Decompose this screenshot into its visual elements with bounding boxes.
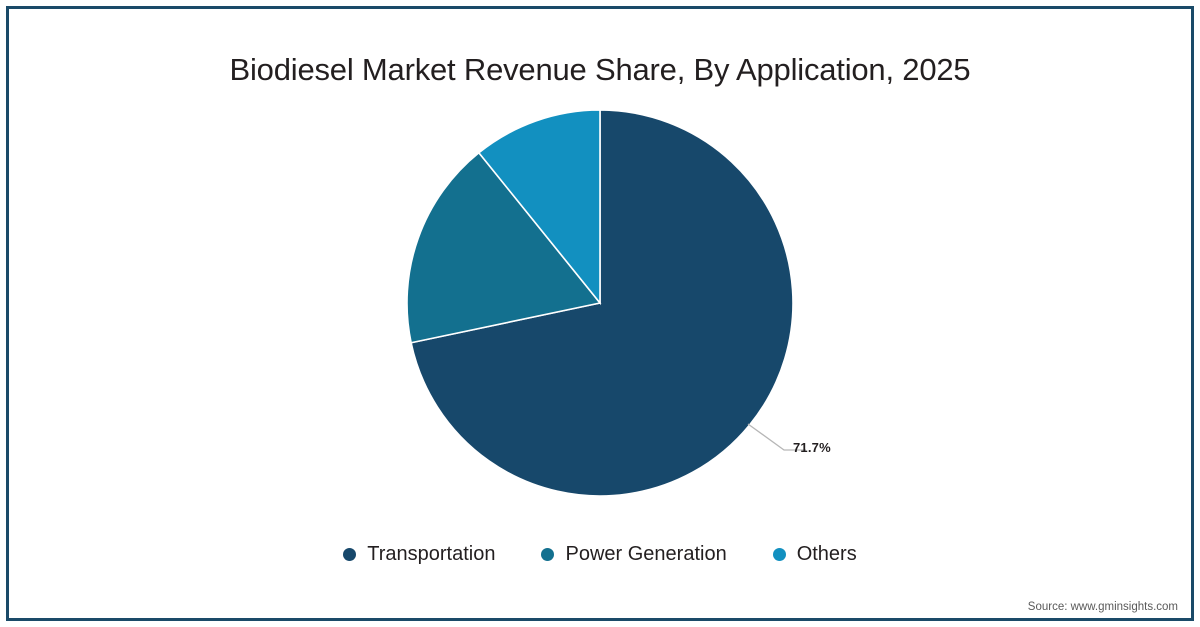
pie-chart-area (0, 0, 1200, 627)
legend-item-label: Power Generation (565, 541, 726, 567)
legend-swatch-icon (773, 548, 786, 561)
legend-item-label: Others (797, 541, 857, 567)
chart-legend: TransportationPower GenerationOthers (0, 541, 1200, 567)
legend-swatch-icon (541, 548, 554, 561)
legend-item-power-generation[interactable]: Power Generation (541, 541, 726, 567)
legend-swatch-icon (343, 548, 356, 561)
legend-item-label: Transportation (367, 541, 495, 567)
pie-data-label-transportation: 71.7% (793, 440, 831, 455)
source-attribution: Source: www.gminsights.com (1028, 601, 1178, 613)
legend-item-others[interactable]: Others (773, 541, 857, 567)
legend-item-transportation[interactable]: Transportation (343, 541, 495, 567)
chart-canvas: Biodiesel Market Revenue Share, By Appli… (0, 0, 1200, 627)
pie-slice-group (407, 110, 793, 496)
pie-svg (0, 0, 1200, 627)
